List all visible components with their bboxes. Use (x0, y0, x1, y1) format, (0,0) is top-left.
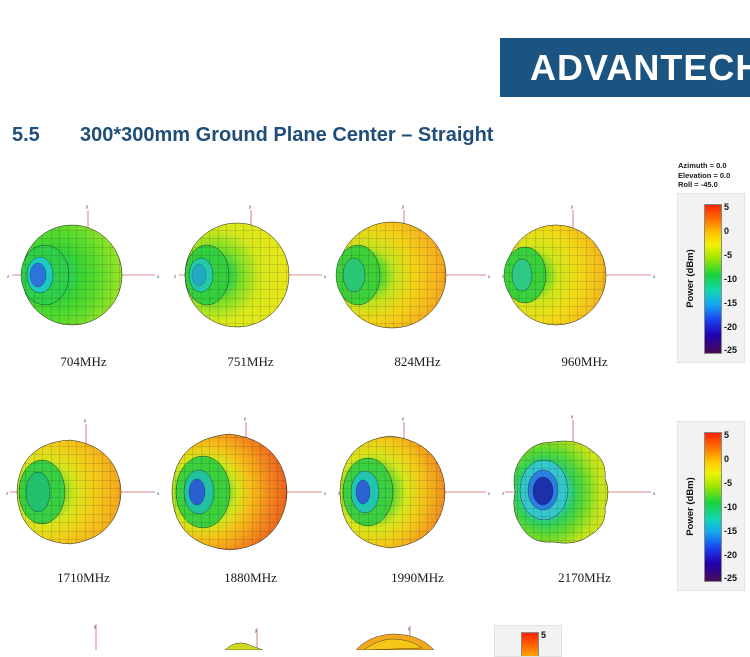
colorbar-legend: Power (dBm) 5 0 -5 -10 -15 -20 -25 (677, 193, 745, 363)
svg-text:y: y (408, 626, 411, 631)
pattern-frequency-label: 2170MHz (501, 570, 668, 586)
pattern-frequency-label: 1710MHz (0, 570, 167, 586)
pattern-frequency-label: 1990MHz (334, 570, 501, 586)
svg-text:z: z (502, 491, 505, 496)
svg-text:y: y (571, 204, 574, 209)
svg-text:z: z (6, 491, 9, 496)
pattern-frequency-label: 704MHz (0, 354, 167, 370)
colorbar-tick: -5 (724, 250, 732, 260)
colorbar-tick: -15 (724, 526, 737, 536)
pattern-row-1: z x y 704MHz (0, 196, 670, 386)
colorbar-ticks: 5 0 -5 -10 -15 -20 -25 (724, 204, 744, 352)
radiation-pattern-plot: z x y (0, 412, 167, 570)
advantech-wordmark: ADVANTECH (530, 47, 750, 89)
svg-text:y: y (94, 624, 97, 629)
pattern-panel: z x y 960MHz (501, 196, 668, 386)
radiation-pattern-plot: z x y (167, 196, 334, 354)
pattern-lobe (514, 441, 608, 543)
pattern-panel: y (167, 622, 334, 650)
radiation-pattern-plot: z x y (501, 196, 668, 354)
colorbar-tick: 5 (724, 430, 729, 440)
pattern-frequency-label: 960MHz (501, 354, 668, 370)
section-number: 5.5 (12, 124, 80, 147)
svg-text:x: x (653, 491, 656, 496)
colorbar-tick: -15 (724, 298, 737, 308)
radiation-pattern-plot: z x y (334, 412, 501, 570)
svg-text:y: y (402, 416, 405, 421)
pattern-frequency-label: 1880MHz (167, 570, 334, 586)
colorbar-tick: 0 (724, 454, 729, 464)
svg-text:y: y (255, 628, 258, 633)
orientation-readout: Azimuth = 0.0 Elevation = 0.0 Roll = -45… (678, 161, 750, 190)
pattern-frequency-label: 751MHz (167, 354, 334, 370)
svg-text:z: z (174, 274, 177, 279)
colorbar-gradient (704, 432, 722, 582)
colorbar-tick: -20 (724, 550, 737, 560)
svg-text:y: y (402, 204, 405, 209)
advantech-brand-banner: ADVANTECH (500, 38, 750, 97)
colorbar-tick: 5 (724, 202, 729, 212)
colorbar-tick: -25 (724, 573, 737, 583)
colorbar-tick: -5 (724, 478, 732, 488)
pattern-lobe (336, 222, 446, 328)
svg-text:x: x (324, 491, 327, 496)
pattern-row-3-partial: y y y (0, 622, 670, 650)
colorbar-gradient (521, 632, 539, 657)
colorbar-legend: Power (dBm) 5 0 -5 -10 -15 -20 -25 (677, 421, 745, 591)
colorbar-axis-label: Power (dBm) (680, 194, 700, 362)
colorbar-tick: 0 (724, 226, 729, 236)
radiation-pattern-plot: z x y (0, 196, 167, 354)
pattern-panel: z x y 1880MHz (167, 412, 334, 602)
colorbar-tick: -10 (724, 274, 737, 284)
svg-text:z: z (7, 274, 10, 279)
colorbar-tick: -25 (724, 345, 737, 355)
pattern-panel: z x y 1990MHz (334, 412, 501, 602)
colorbar-axis-label: Power (dBm) (680, 422, 700, 590)
pattern-panel: z x y 824MHz (334, 196, 501, 386)
radiation-pattern-plot: z x y (501, 412, 668, 570)
radiation-pattern-plot: z x y (334, 196, 501, 354)
svg-text:x: x (157, 274, 160, 279)
elevation-value: Elevation = 0.0 (678, 171, 750, 181)
pattern-panel: z x y 751MHz (167, 196, 334, 386)
pattern-row-2: z x y 1710MHz (0, 412, 670, 602)
pattern-lobe (172, 434, 287, 550)
svg-text:x: x (653, 274, 656, 279)
pattern-lobe (21, 225, 122, 325)
pattern-panel: z x y 2170MHz (501, 412, 668, 602)
colorbar-tick: -10 (724, 502, 737, 512)
pattern-lobe (17, 440, 121, 544)
pattern-lobe (504, 225, 606, 325)
svg-text:y: y (571, 414, 574, 419)
roll-value: Roll = -45.0 (678, 180, 750, 190)
pattern-panel: z x y 1710MHz (0, 412, 167, 602)
radiation-pattern-plot: z x y (167, 412, 334, 570)
colorbar-tick: -20 (724, 322, 737, 332)
colorbar-tick: 5 (541, 630, 546, 640)
pattern-panel: z x y 704MHz (0, 196, 167, 386)
pattern-panel: y (334, 622, 501, 650)
svg-text:y: y (244, 416, 247, 421)
pattern-frequency-label: 824MHz (334, 354, 501, 370)
svg-text:y: y (86, 204, 89, 209)
svg-text:x: x (488, 491, 491, 496)
colorbar-ticks: 5 (541, 632, 561, 657)
svg-text:y: y (84, 418, 87, 423)
svg-text:x: x (324, 274, 327, 279)
page-title: 5.5300*300mm Ground Plane Center – Strai… (12, 124, 712, 147)
pattern-panel: y (0, 622, 167, 650)
pattern-lobe (185, 223, 289, 327)
svg-text:x: x (157, 491, 160, 496)
azimuth-value: Azimuth = 0.0 (678, 161, 750, 171)
pattern-lobe (340, 436, 445, 548)
section-title-text: 300*300mm Ground Plane Center – Straight (80, 124, 493, 146)
colorbar-ticks: 5 0 -5 -10 -15 -20 -25 (724, 432, 744, 580)
svg-text:y: y (249, 204, 252, 209)
colorbar-legend-partial: 5 (494, 625, 562, 657)
svg-text:x: x (488, 274, 491, 279)
colorbar-gradient (704, 204, 722, 354)
